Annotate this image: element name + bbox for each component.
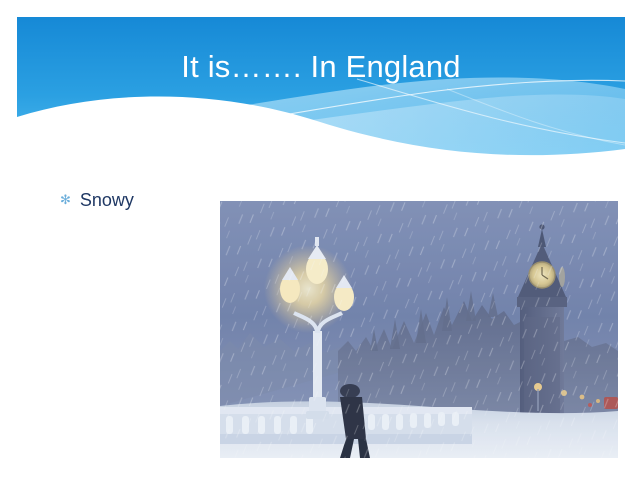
asterisk-bullet-icon: ✻ — [60, 188, 71, 212]
header-wave-graphic — [17, 17, 625, 160]
photo-graphic — [220, 201, 618, 458]
slide: It is……. In England ✻ Snowy — [0, 0, 640, 480]
slide-title: It is……. In England — [17, 47, 625, 87]
big-ben-westminster-snow-photo — [220, 201, 618, 458]
content-placeholder: ✻ Snowy — [60, 188, 220, 212]
list-item-label: Snowy — [80, 188, 134, 212]
header-banner — [17, 17, 625, 160]
list-item: ✻ Snowy — [60, 188, 220, 212]
